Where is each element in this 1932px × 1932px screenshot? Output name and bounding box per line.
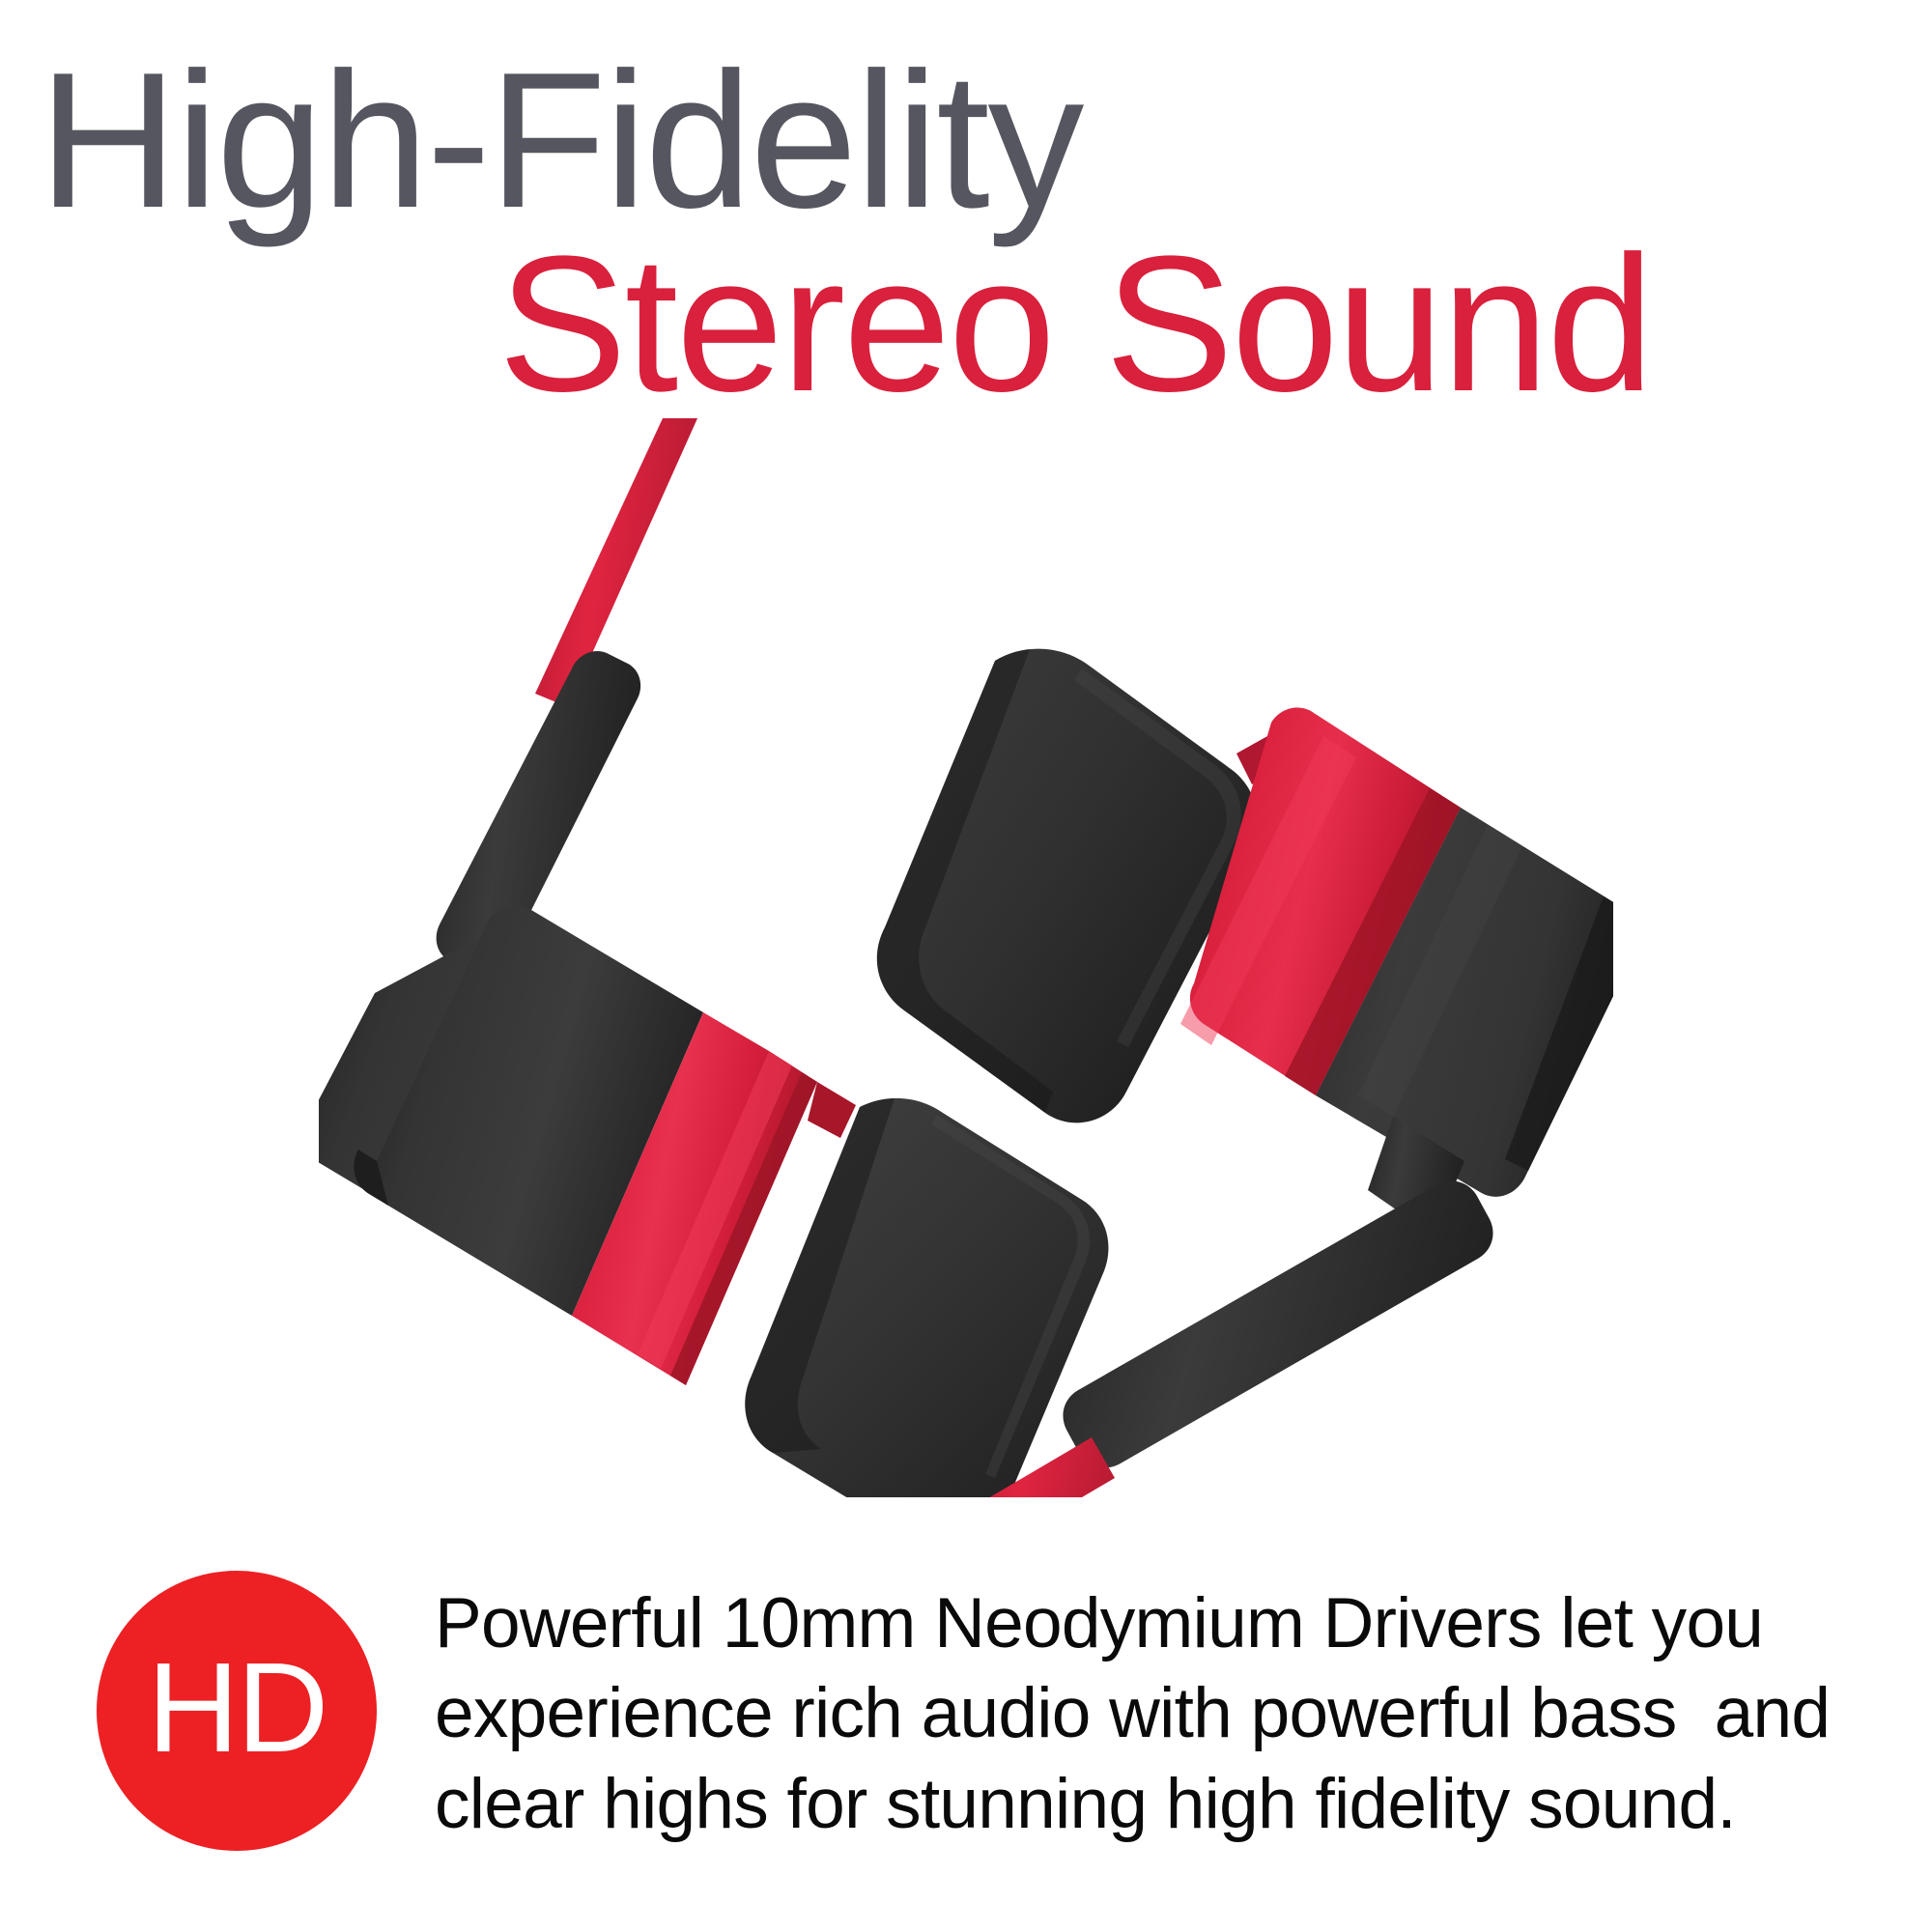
hd-badge-label: HD [147,1644,326,1772]
feature-description-line: clear highs for stunning high fidelity s… [435,1759,1874,1849]
headline-line-primary: High-Fidelity [0,44,1681,238]
headline: High-Fidelity Stereo Sound [0,44,1681,421]
headline-line-secondary: Stereo Sound [0,228,1681,421]
earbuds-illustration [319,415,1613,1497]
feature-description-line: Powerful 10mm Neodymium Drivers let you [435,1578,1874,1668]
product-image [319,415,1613,1497]
hd-badge: HD [97,1571,377,1851]
feature-description: Powerful 10mm Neodymium Drivers let you … [435,1578,1874,1849]
right-earbud [877,649,1613,1197]
promo-page: High-Fidelity Stereo Sound [0,0,1932,1932]
feature-description-line: experience rich audio with powerful bass… [435,1668,1874,1758]
feature-block: HD Powerful 10mm Neodymium Drivers let y… [97,1565,1874,1874]
